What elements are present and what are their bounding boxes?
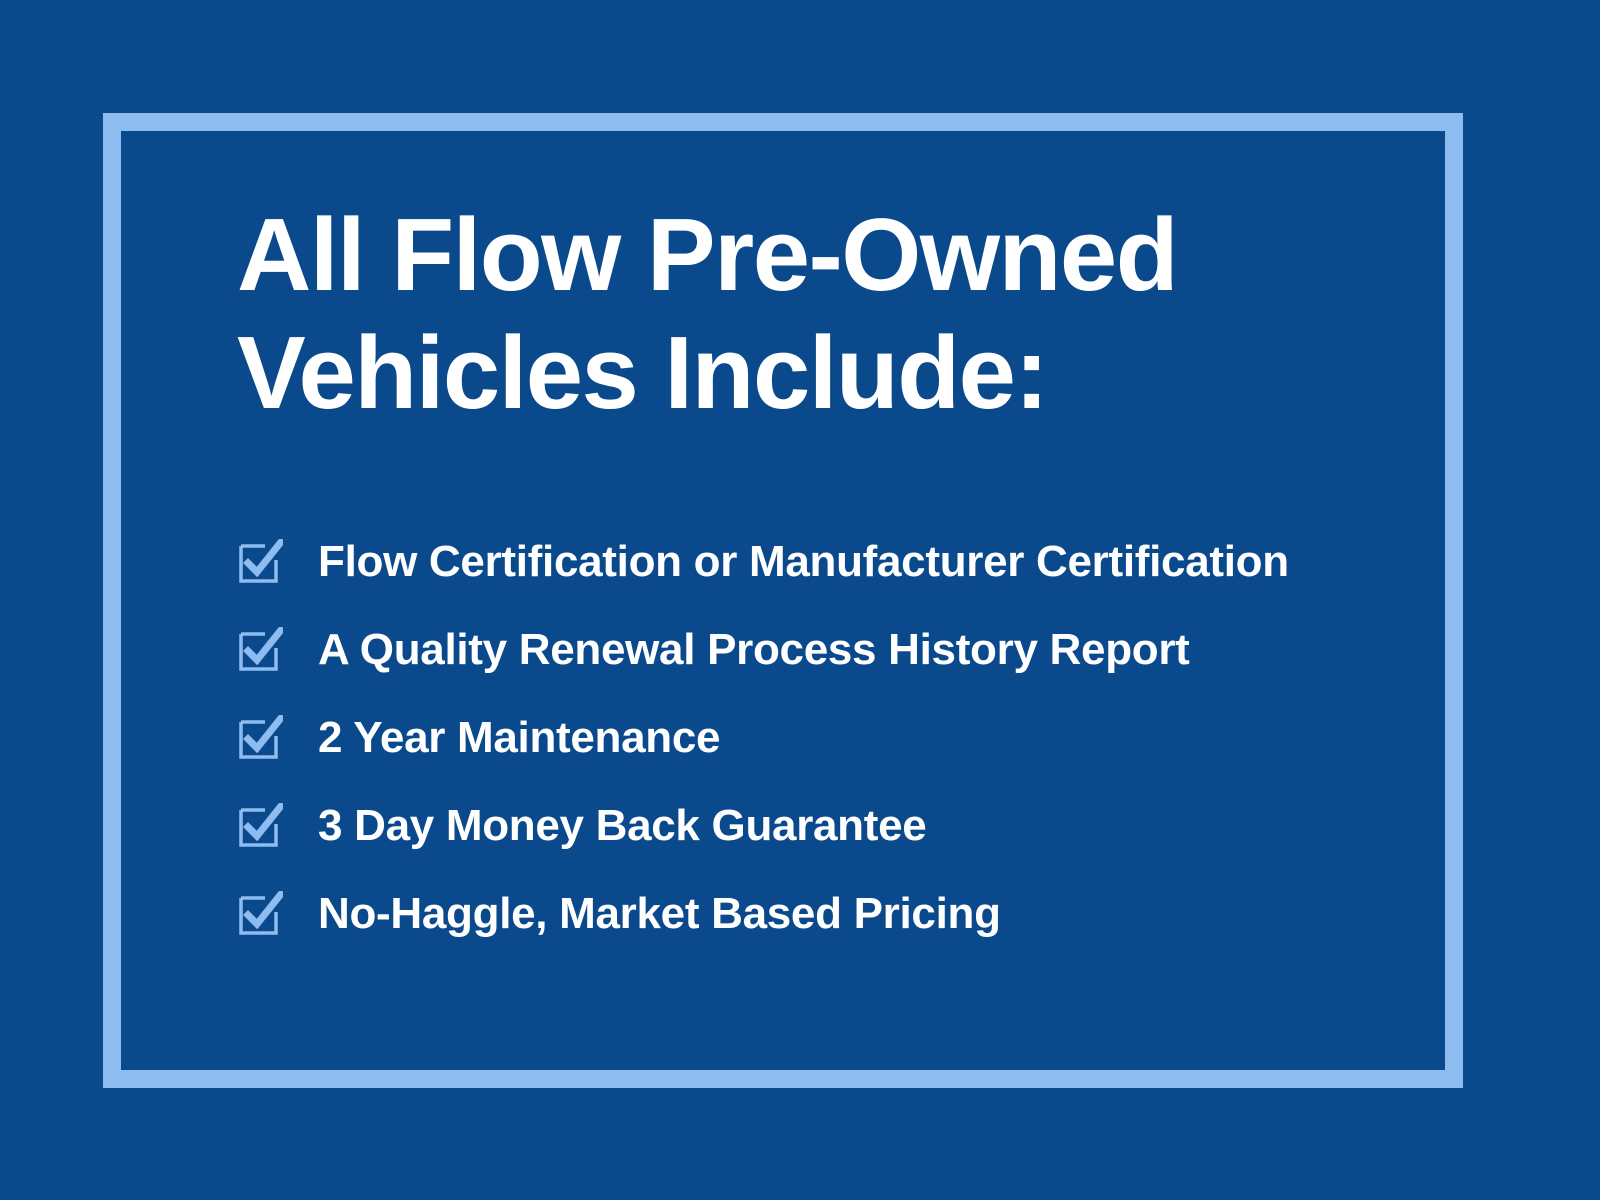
list-item-label: A Quality Renewal Process History Report (318, 625, 1190, 675)
checkbox-checked-icon (237, 803, 283, 849)
checkbox-checked-icon (237, 539, 283, 585)
promo-card: All Flow Pre-Owned Vehicles Include: Flo… (0, 0, 1600, 1200)
list-item: Flow Certification or Manufacturer Certi… (237, 518, 1437, 606)
list-item: 2 Year Maintenance (237, 694, 1437, 782)
benefits-list: Flow Certification or Manufacturer Certi… (237, 518, 1437, 958)
list-item: A Quality Renewal Process History Report (237, 606, 1437, 694)
list-item: 3 Day Money Back Guarantee (237, 782, 1437, 870)
list-item: No-Haggle, Market Based Pricing (237, 870, 1437, 958)
list-item-label: 2 Year Maintenance (318, 713, 720, 763)
list-item-label: No-Haggle, Market Based Pricing (318, 889, 1001, 939)
list-item-label: 3 Day Money Back Guarantee (318, 801, 926, 851)
list-item-label: Flow Certification or Manufacturer Certi… (318, 537, 1289, 587)
page-title: All Flow Pre-Owned Vehicles Include: (237, 196, 1247, 432)
promo-content: All Flow Pre-Owned Vehicles Include: Flo… (237, 196, 1437, 432)
checkbox-checked-icon (237, 891, 283, 937)
checkbox-checked-icon (237, 715, 283, 761)
checkbox-checked-icon (237, 627, 283, 673)
